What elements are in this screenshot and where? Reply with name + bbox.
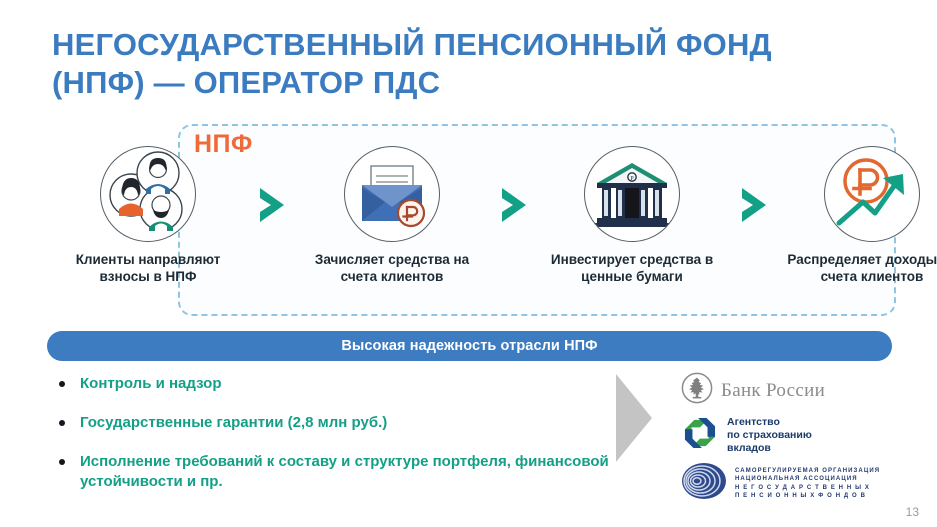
flow-step-invest: P Инвестирует средства в bbox=[544, 146, 720, 285]
logo-deposit-insurance-agency: Агентство по страхованию вкладов bbox=[681, 416, 911, 455]
flow-step-clients: Клиенты направляют взносы в НПФ bbox=[60, 146, 236, 285]
ruble-growth-arrow-icon bbox=[824, 146, 920, 242]
flow-step-credit: Зачисляет средства на счета клиентов bbox=[304, 146, 480, 285]
flow-step-caption: Клиенты направляют взносы в НПФ bbox=[60, 251, 236, 285]
partner-logos: Банк России Агентство по страхованию вкл… bbox=[681, 372, 911, 512]
flow-step-caption: Зачисляет средства на счета клиентов bbox=[304, 251, 480, 285]
bank-building-icon: P bbox=[584, 146, 680, 242]
bank-of-russia-label: Банк России bbox=[721, 380, 825, 402]
flow-step-distribute: Распределяет доходы на счета клиентов bbox=[784, 146, 937, 285]
clients-group-icon bbox=[100, 146, 196, 242]
asv-line-3: вкладов bbox=[727, 442, 812, 455]
list-item: Исполнение требований к составу и структ… bbox=[54, 452, 614, 492]
gray-arrow-icon bbox=[612, 374, 674, 462]
chevron-right-icon bbox=[494, 184, 536, 226]
list-item: Контроль и надзор bbox=[54, 374, 614, 394]
logo-bank-of-russia: Банк России bbox=[681, 372, 911, 409]
asv-label: Агентство по страхованию вкладов bbox=[727, 416, 812, 455]
napf-line-3: Н Е Г О С У Д А Р С Т В Е Н Н Ы Х bbox=[735, 484, 880, 492]
chevron-right-icon bbox=[252, 184, 294, 226]
logo-napf: САМОРЕГУЛИРУЕМАЯ ОРГАНИЗАЦИЯ НАЦИОНАЛЬНА… bbox=[681, 462, 911, 505]
interlocking-arrows-icon bbox=[681, 417, 719, 454]
envelope-ruble-icon bbox=[344, 146, 440, 242]
reliability-banner: Высокая надежность отрасли НПФ bbox=[47, 331, 892, 361]
list-item: Государственные гарантии (2,8 млн руб.) bbox=[54, 413, 614, 433]
napf-line-2: НАЦИОНАЛЬНАЯ АССОЦИАЦИЯ bbox=[735, 475, 880, 483]
page-title: НЕГОСУДАРСТВЕННЫЙ ПЕНСИОННЫЙ ФОНД (НПФ) … bbox=[52, 26, 872, 102]
asv-line-1: Агентство bbox=[727, 416, 812, 429]
chevron-right-icon bbox=[734, 184, 776, 226]
napf-label: САМОРЕГУЛИРУЕМАЯ ОРГАНИЗАЦИЯ НАЦИОНАЛЬНА… bbox=[735, 467, 880, 501]
flow-diagram: НПФ Клиенты bbox=[44, 124, 896, 316]
flow-step-caption: Инвестирует средства в ценные бумаги bbox=[544, 251, 720, 285]
concentric-spiral-icon bbox=[681, 462, 727, 505]
bullet-list: Контроль и надзор Государственные гарант… bbox=[54, 374, 614, 511]
napf-line-1: САМОРЕГУЛИРУЕМАЯ ОРГАНИЗАЦИЯ bbox=[735, 467, 880, 475]
banner-text: Высокая надежность отрасли НПФ bbox=[341, 338, 597, 354]
asv-line-2: по страхованию bbox=[727, 429, 812, 442]
napf-line-4: П Е Н С И О Н Н Ы Х Ф О Н Д О В bbox=[735, 492, 880, 500]
flow-step-caption: Распределяет доходы на счета клиентов bbox=[784, 251, 937, 285]
page-number: 13 bbox=[906, 505, 919, 519]
double-headed-eagle-icon bbox=[681, 372, 713, 409]
